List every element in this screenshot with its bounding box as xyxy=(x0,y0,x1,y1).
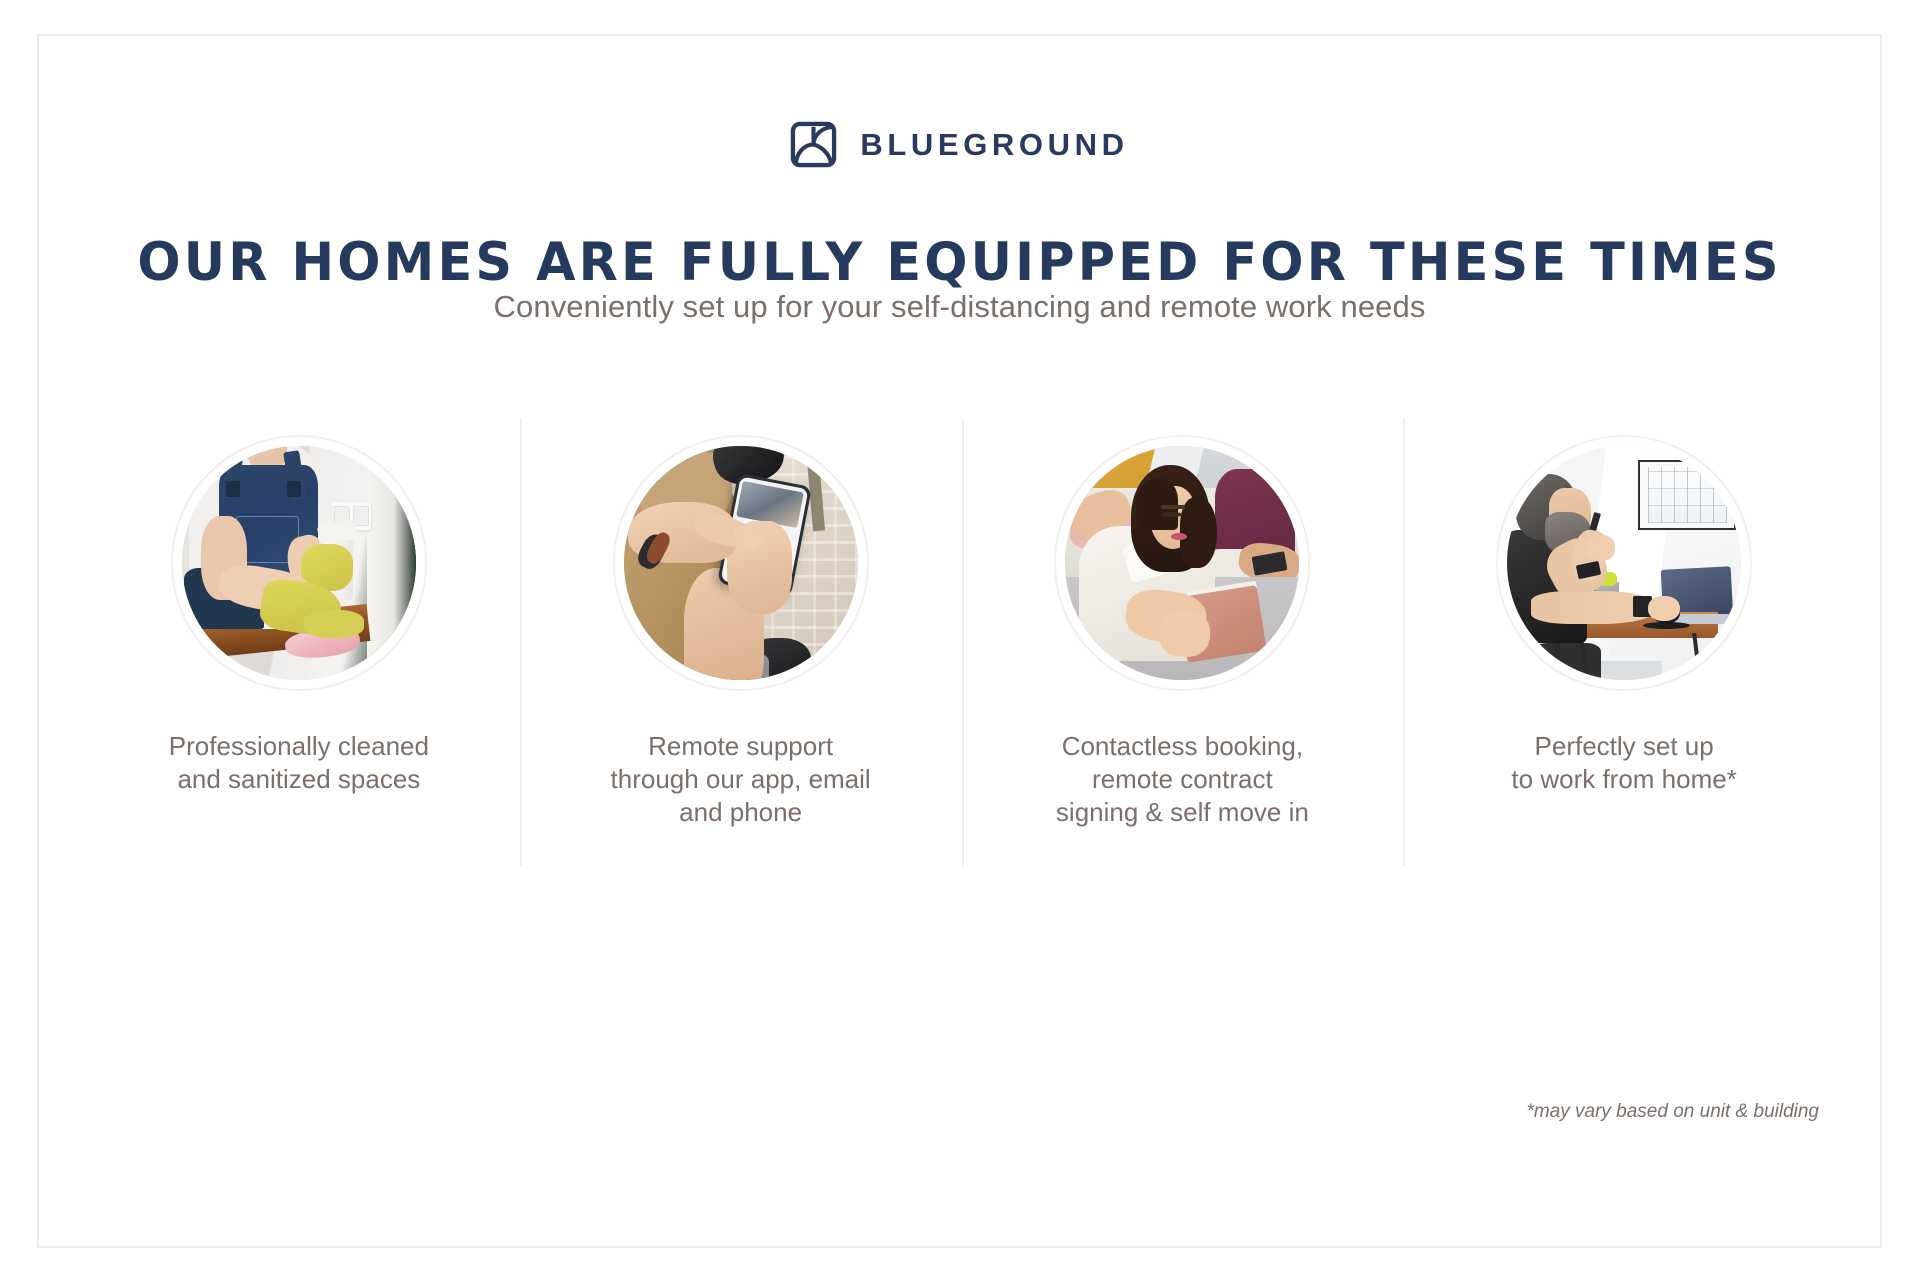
feature-item: Professionally cleaned and sanitized spa… xyxy=(78,418,520,866)
photo-contactless-booking-tablet xyxy=(1065,446,1299,680)
page-subtitle: Conveniently set up for your self-distan… xyxy=(39,289,1880,325)
feature-item: Perfectly set up to work from home* xyxy=(1403,418,1845,866)
photo-ring xyxy=(171,435,427,691)
blueground-square-logo-icon xyxy=(790,121,837,168)
feature-caption: Professionally cleaned and sanitized spa… xyxy=(169,730,429,796)
feature-caption: Contactless booking, remote contract sig… xyxy=(1056,730,1309,829)
photo-professional-cleaning xyxy=(182,446,416,680)
photo-ring xyxy=(1054,435,1310,691)
photo-remote-support-phone-app xyxy=(624,446,858,680)
page-title: OUR HOMES ARE FULLY EQUIPPED FOR THESE T… xyxy=(76,232,1843,293)
footnote-disclaimer: *may vary based on unit & building xyxy=(1526,1101,1819,1123)
feature-caption: Perfectly set up to work from home* xyxy=(1511,730,1736,796)
feature-caption: Remote support through our app, email an… xyxy=(611,730,871,829)
photo-ring xyxy=(1496,435,1752,691)
brand-wordmark: BLUEGROUND xyxy=(860,129,1128,160)
feature-item: Remote support through our app, email an… xyxy=(520,418,962,866)
infographic-card: BLUEGROUND OUR HOMES ARE FULLY EQUIPPED … xyxy=(37,34,1882,1248)
photo-work-from-home-desk xyxy=(1507,446,1741,680)
feature-item: Contactless booking, remote contract sig… xyxy=(962,418,1404,866)
brand-logo: BLUEGROUND xyxy=(39,121,1880,168)
photo-ring xyxy=(613,435,869,691)
feature-row: Professionally cleaned and sanitized spa… xyxy=(78,418,1845,866)
